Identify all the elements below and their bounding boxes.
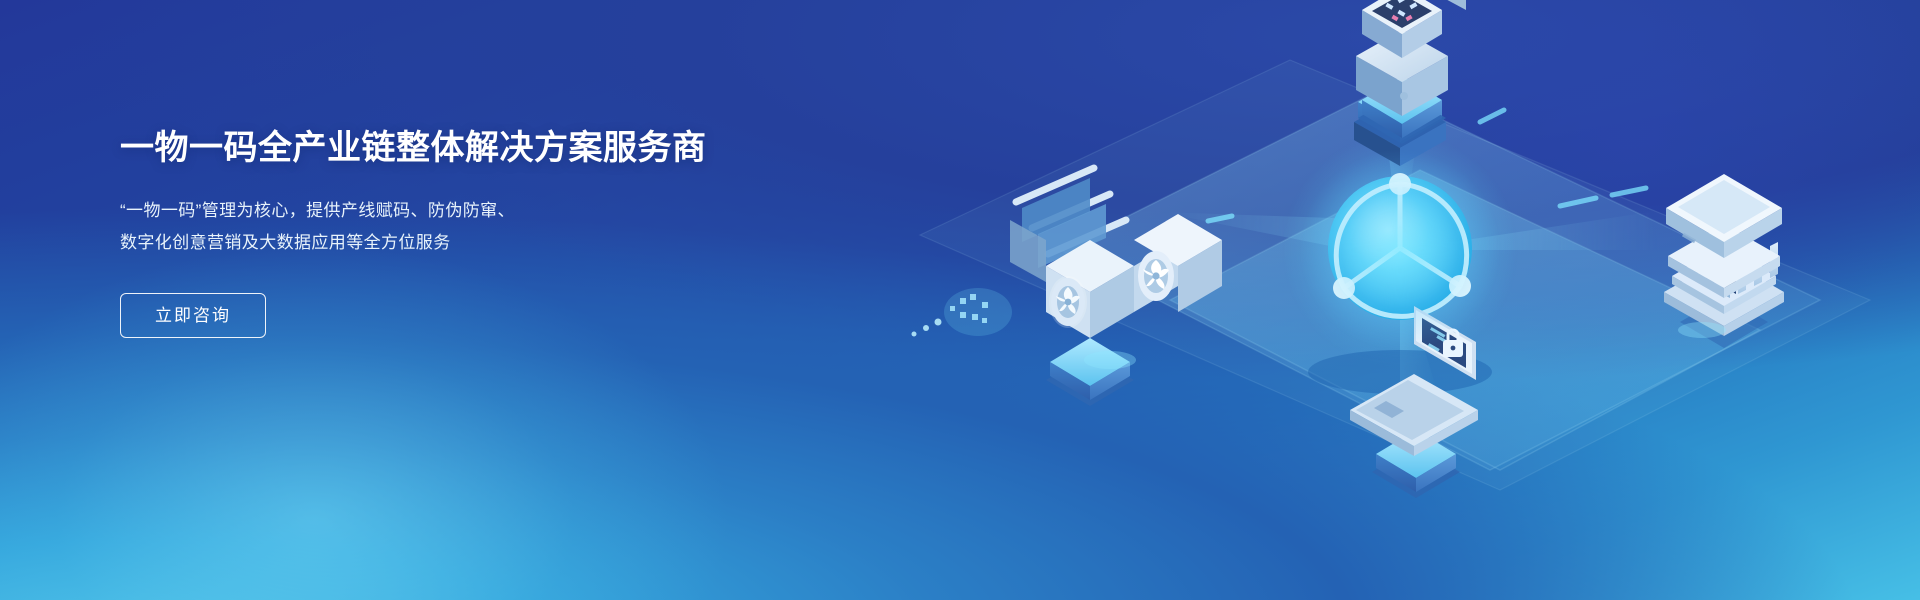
bank-building-icon bbox=[1664, 174, 1784, 348]
isometric-illustration bbox=[860, 0, 1920, 600]
globe-pulse-glow bbox=[1260, 110, 1540, 390]
subtitle-line-2: 数字化创意营销及大数据应用等全方位服务 bbox=[120, 227, 880, 259]
page-title: 一物一码全产业链整体解决方案服务商 bbox=[120, 128, 880, 169]
consult-now-button[interactable]: 立即咨询 bbox=[120, 293, 266, 338]
hero-subtitle: “一物一码”管理为核心，提供产线赋码、防伪防窜、 数字化创意营销及大数据应用等全… bbox=[120, 195, 880, 259]
hero-copy: 一物一码全产业链整体解决方案服务商 “一物一码”管理为核心，提供产线赋码、防伪防… bbox=[120, 128, 880, 338]
hero-banner: 一物一码全产业链整体解决方案服务商 “一物一码”管理为核心，提供产线赋码、防伪防… bbox=[0, 0, 1920, 600]
qr-data-stream bbox=[912, 288, 1013, 337]
subtitle-line-1: “一物一码”管理为核心，提供产线赋码、防伪防窜、 bbox=[120, 195, 880, 227]
